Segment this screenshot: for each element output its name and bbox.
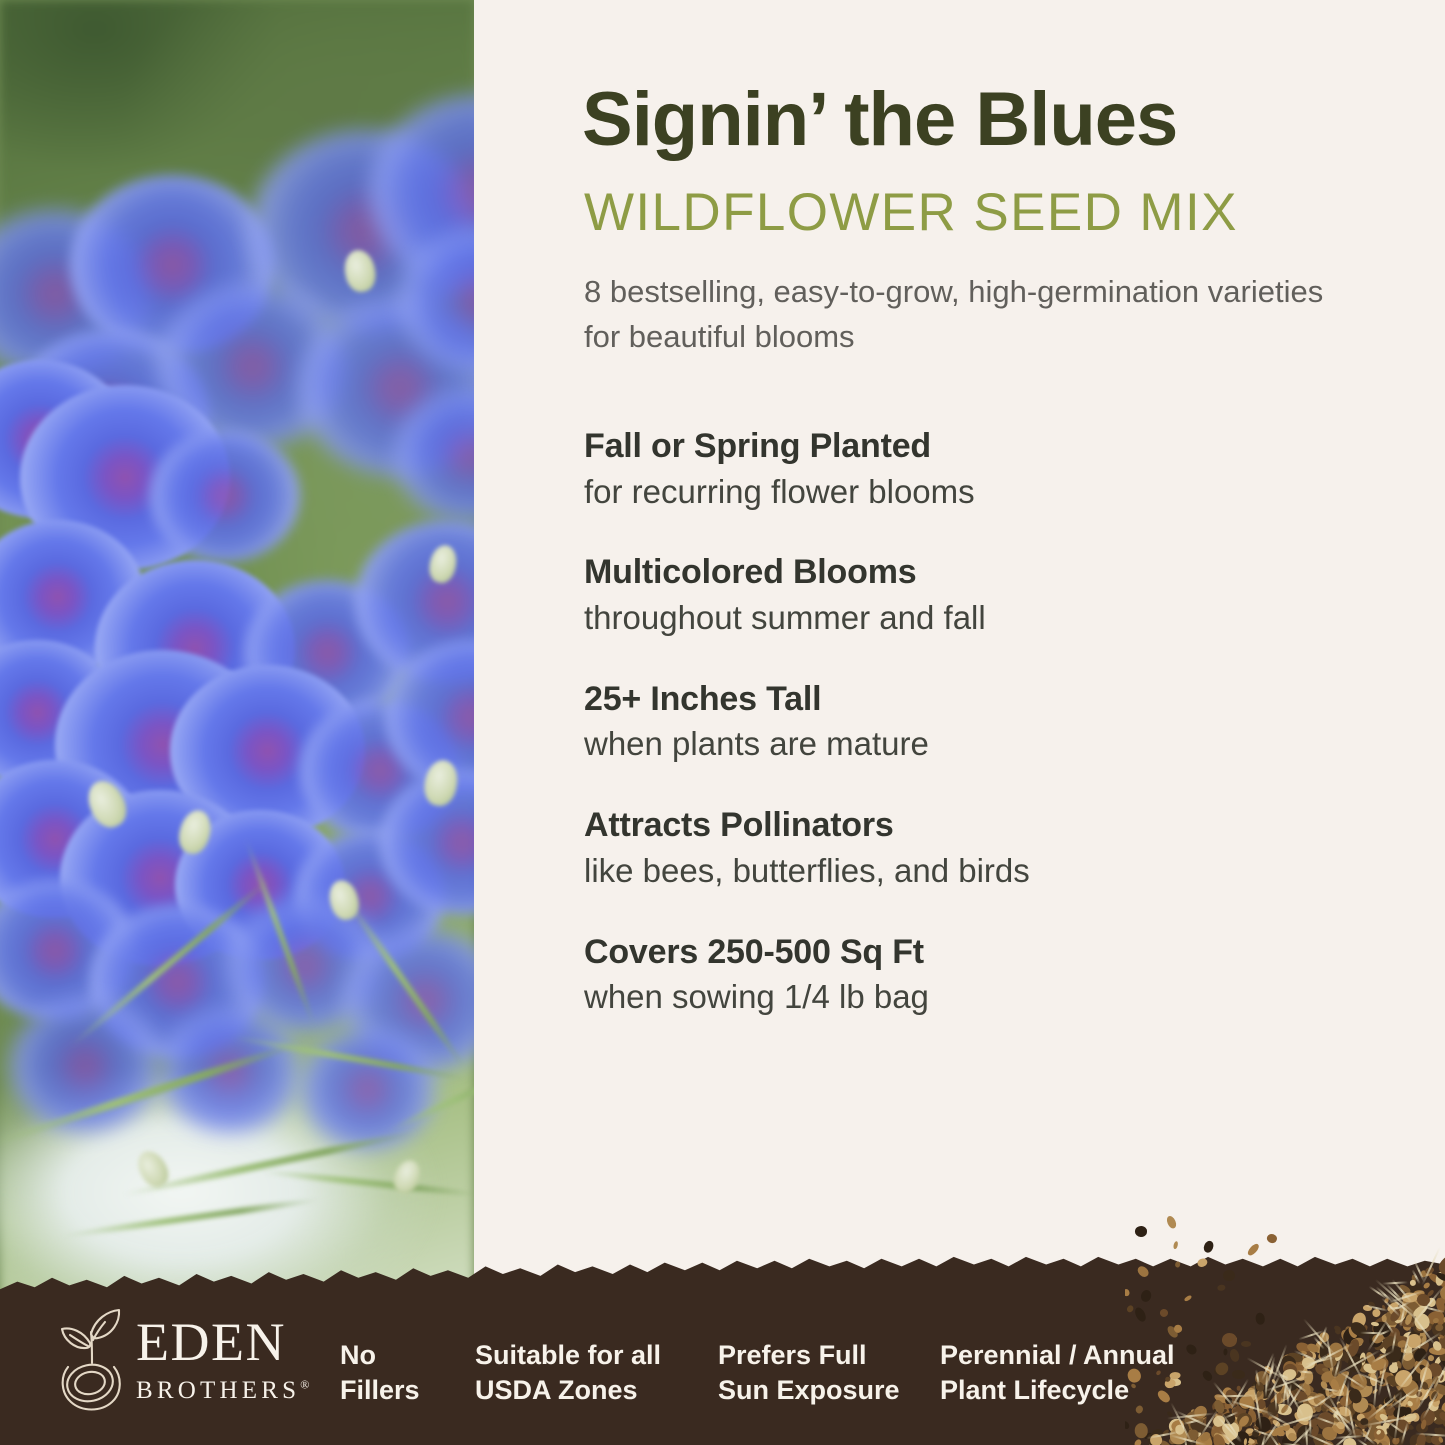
footer-attribute-plant-lifecycle: Perennial / Annual Plant Lifecycle [940, 1338, 1175, 1409]
attribute-line-1: Prefers Full [718, 1338, 900, 1374]
attribute-line-2: Sun Exposure [718, 1373, 900, 1409]
feature-item: Covers 250-500 Sq Ftwhen sowing 1/4 lb b… [584, 931, 1344, 1019]
attribute-line-1: No [340, 1338, 420, 1374]
feature-heading: 25+ Inches Tall [584, 678, 1344, 721]
feature-item: Attracts Pollinatorslike bees, butterfli… [584, 804, 1344, 892]
cornflower-bloom [150, 430, 300, 562]
footer-attribute-sun-exposure: Prefers Full Sun Exposure [718, 1338, 900, 1409]
eden-brothers-logo[interactable]: EDEN BROTHERS® [52, 1303, 282, 1415]
feature-item: 25+ Inches Tallwhen plants are mature [584, 678, 1344, 766]
feature-item: Multicolored Bloomsthroughout summer and… [584, 551, 1344, 639]
attribute-line-1: Perennial / Annual [940, 1338, 1175, 1374]
feature-detail: when plants are mature [584, 723, 1344, 766]
footer-attribute-usda-zones: Suitable for all USDA Zones [475, 1338, 661, 1409]
attribute-line-2: Fillers [340, 1373, 420, 1409]
trademark-symbol: ® [300, 1378, 309, 1392]
logo-brothers-text: BROTHERS® [136, 1378, 309, 1403]
feature-heading: Fall or Spring Planted [584, 425, 1344, 468]
footer-soil-bar: EDEN BROTHERS® No Fillers Suitable for a… [0, 1255, 1445, 1445]
feature-heading: Covers 250-500 Sq Ft [584, 931, 1344, 974]
page-title: Signin’ the Blues [582, 82, 1432, 158]
feature-detail: when sowing 1/4 lb bag [584, 976, 1344, 1019]
footer-attribute-no-fillers: No Fillers [340, 1338, 420, 1409]
cornflower-bloom [160, 1010, 300, 1133]
feature-heading: Multicolored Blooms [584, 551, 1344, 594]
content-panel: Signin’ the Blues WILDFLOWER SEED MIX 8 … [474, 0, 1445, 1445]
feature-heading: Attracts Pollinators [584, 804, 1344, 847]
logo-brothers-label: BROTHERS [136, 1377, 300, 1404]
feature-detail: for recurring flower blooms [584, 471, 1344, 514]
feature-detail: like bees, butterflies, and birds [584, 850, 1344, 893]
cornflower-photo [0, 0, 474, 1445]
attribute-line-1: Suitable for all [475, 1338, 661, 1374]
logo-wordmark: EDEN BROTHERS® [136, 1315, 309, 1403]
sprout-seed-icon [52, 1307, 128, 1413]
feature-detail: throughout summer and fall [584, 597, 1344, 640]
attribute-line-2: Plant Lifecycle [940, 1373, 1175, 1409]
product-infographic: Signin’ the Blues WILDFLOWER SEED MIX 8 … [0, 0, 1445, 1445]
product-tagline: 8 bestselling, easy-to-grow, high-germin… [584, 270, 1344, 360]
attribute-line-2: USDA Zones [475, 1373, 661, 1409]
feature-list: Fall or Spring Plantedfor recurring flow… [584, 425, 1344, 1019]
logo-eden-text: EDEN [136, 1315, 309, 1369]
product-subtitle: WILDFLOWER SEED MIX [584, 185, 1434, 241]
feature-item: Fall or Spring Plantedfor recurring flow… [584, 425, 1344, 513]
